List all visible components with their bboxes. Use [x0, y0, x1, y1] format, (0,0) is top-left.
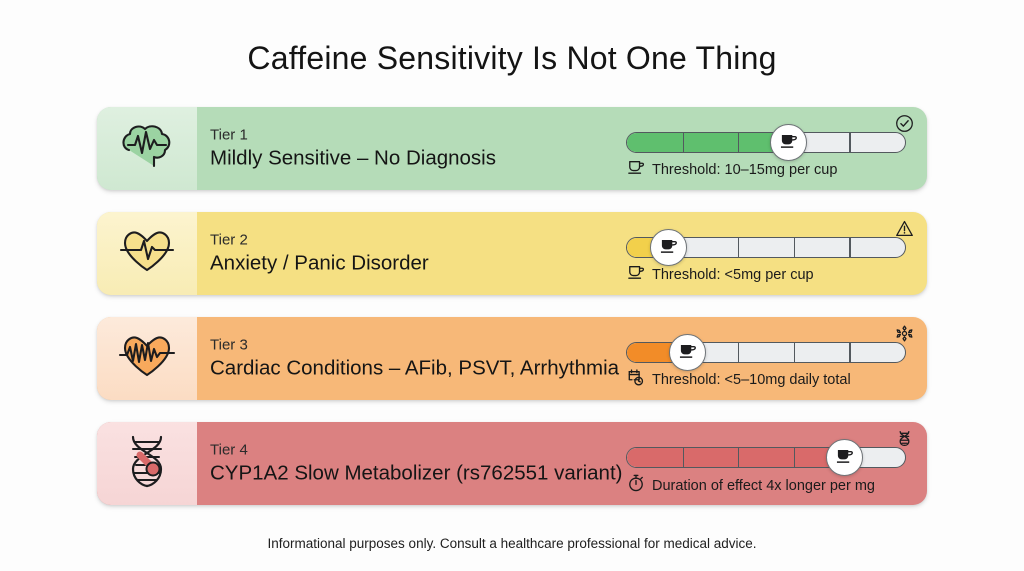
tier-title: Cardiac Conditions – AFib, PSVT, Arrhyth…: [210, 355, 619, 382]
coffee-cup-icon: [627, 264, 645, 285]
tier-title: CYP1A2 Slow Metabolizer (rs762551 varian…: [210, 460, 622, 487]
dna-small-icon: [895, 429, 914, 448]
heart-pulse-icon: [118, 226, 176, 281]
meter-segment-divider: [738, 343, 739, 362]
meter-segment-divider: [849, 343, 850, 362]
tier-title: Anxiety / Panic Disorder: [210, 250, 429, 277]
tier-meter-zone: Threshold: 10–15mg per cup: [623, 107, 915, 190]
tier-icon-panel: [97, 212, 197, 295]
tier-card[interactable]: Tier 2Anxiety / Panic DisorderThreshold:…: [97, 212, 927, 295]
meter-segment-divider: [738, 448, 739, 467]
tier-label: Tier 4: [210, 440, 622, 460]
caffeine-threshold-meter[interactable]: [626, 447, 906, 468]
meter-segment-divider: [794, 238, 795, 257]
tier-label: Tier 2: [210, 230, 429, 250]
check-circle-icon: [895, 114, 914, 133]
tier-icon-panel: [97, 422, 197, 505]
meter-segment-divider: [683, 133, 684, 152]
tier-text-block: Tier 2Anxiety / Panic Disorder: [210, 230, 429, 277]
tier-list: Tier 1Mildly Sensitive – No DiagnosisThr…: [97, 107, 927, 527]
footer-disclaimer: Informational purposes only. Consult a h…: [0, 536, 1024, 551]
meter-fill: [627, 448, 844, 467]
caffeine-threshold-meter[interactable]: [626, 342, 906, 363]
tier-label: Tier 3: [210, 335, 619, 355]
tier-meter-zone: Duration of effect 4x longer per mg: [623, 422, 915, 505]
tier-note-text: Duration of effect 4x longer per mg: [652, 478, 875, 494]
tier-note-text: Threshold: <5mg per cup: [652, 267, 814, 283]
caffeine-threshold-meter[interactable]: [626, 132, 906, 153]
warning-triangle-icon: [895, 219, 914, 238]
coffee-cup-icon: [627, 159, 645, 180]
tier-text-block: Tier 3Cardiac Conditions – AFib, PSVT, A…: [210, 335, 619, 382]
brain-waveform-icon: [117, 120, 177, 177]
tier-note-row: Threshold: <5mg per cup: [627, 264, 814, 285]
tier-card[interactable]: Tier 1Mildly Sensitive – No DiagnosisThr…: [97, 107, 927, 190]
tier-label: Tier 1: [210, 125, 496, 145]
meter-segment-divider: [794, 343, 795, 362]
meter-segment-divider: [738, 238, 739, 257]
meter-segment-divider: [794, 448, 795, 467]
heart-arrhythmia-icon: [118, 331, 176, 386]
meter-segment-divider: [683, 448, 684, 467]
tier-card-body: Tier 4CYP1A2 Slow Metabolizer (rs762551 …: [197, 422, 927, 505]
calendar-clock-icon: [627, 369, 645, 391]
coffee-cup-icon: [835, 447, 854, 469]
tier-text-block: Tier 4CYP1A2 Slow Metabolizer (rs762551 …: [210, 440, 622, 487]
coffee-cup-icon: [678, 342, 697, 364]
meter-fill: [627, 133, 788, 152]
medical-asterisk-icon: [895, 324, 914, 343]
tier-meter-zone: Threshold: <5mg per cup: [623, 212, 915, 295]
meter-knob[interactable]: [826, 439, 863, 476]
meter-segment-divider: [849, 133, 850, 152]
page-title: Caffeine Sensitivity Is Not One Thing: [0, 40, 1024, 77]
tier-card[interactable]: Tier 4CYP1A2 Slow Metabolizer (rs762551 …: [97, 422, 927, 505]
tier-text-block: Tier 1Mildly Sensitive – No Diagnosis: [210, 125, 496, 172]
meter-segment-divider: [849, 238, 850, 257]
tier-card[interactable]: Tier 3Cardiac Conditions – AFib, PSVT, A…: [97, 317, 927, 400]
coffee-cup-icon: [659, 237, 678, 259]
tier-title: Mildly Sensitive – No Diagnosis: [210, 145, 496, 172]
tier-note-row: Threshold: 10–15mg per cup: [627, 159, 837, 180]
tier-card-body: Tier 3Cardiac Conditions – AFib, PSVT, A…: [197, 317, 927, 400]
meter-knob[interactable]: [770, 124, 807, 161]
tier-card-body: Tier 1Mildly Sensitive – No DiagnosisThr…: [197, 107, 927, 190]
stopwatch-icon: [627, 474, 645, 497]
meter-knob[interactable]: [669, 334, 706, 371]
tier-card-body: Tier 2Anxiety / Panic DisorderThreshold:…: [197, 212, 927, 295]
meter-knob[interactable]: [650, 229, 687, 266]
tier-note-text: Threshold: <5–10mg daily total: [652, 372, 851, 388]
dna-helix-icon: [120, 433, 174, 494]
tier-note-row: Threshold: <5–10mg daily total: [627, 369, 851, 391]
tier-meter-zone: Threshold: <5–10mg daily total: [623, 317, 915, 400]
tier-note-row: Duration of effect 4x longer per mg: [627, 474, 875, 497]
coffee-cup-icon: [779, 132, 798, 154]
meter-segment-divider: [738, 133, 739, 152]
tier-note-text: Threshold: 10–15mg per cup: [652, 162, 837, 178]
infographic-page: Caffeine Sensitivity Is Not One Thing Ti…: [0, 0, 1024, 571]
tier-icon-panel: [97, 317, 197, 400]
tier-icon-panel: [97, 107, 197, 190]
